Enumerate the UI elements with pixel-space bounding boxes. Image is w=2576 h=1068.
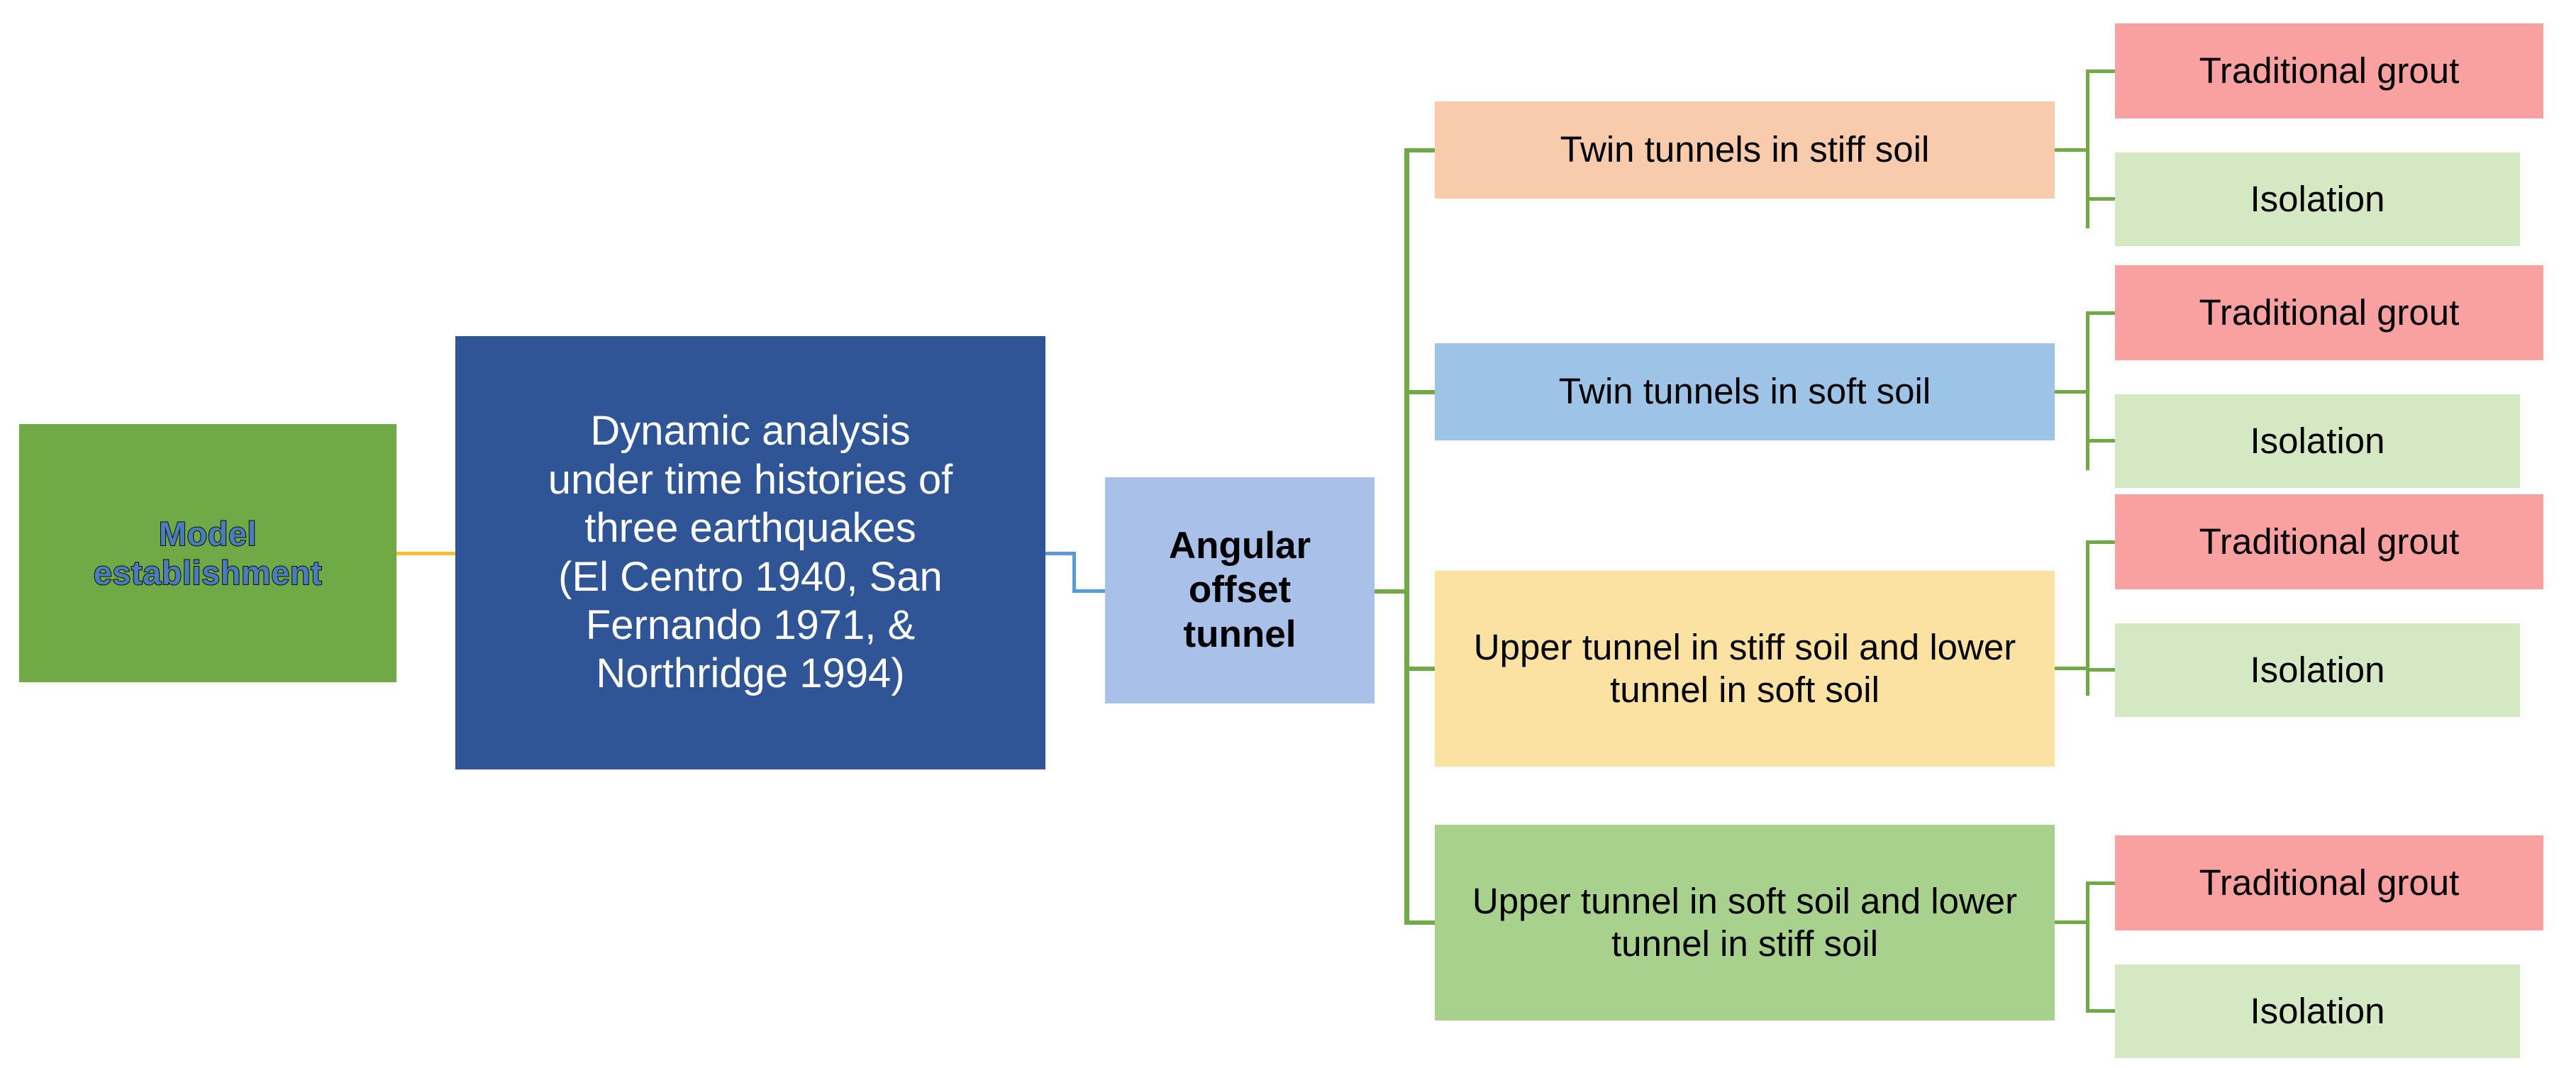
- connector-scenario-0-to-grout: [2086, 69, 2117, 73]
- node-treatment-traditional-grout-2[interactable]: Traditional grout: [2115, 494, 2543, 589]
- connector-scenario-1-to-grout: [2086, 311, 2117, 315]
- node-model-establishment[interactable]: Model establishment: [19, 424, 396, 682]
- connector-trunk-to-scenario-2: [1404, 667, 1437, 671]
- node-scenario-upper-soft-lower-stiff[interactable]: Upper tunnel in soft soil and lower tunn…: [1435, 825, 2055, 1020]
- connector-scenario-1-stub: [2055, 390, 2089, 394]
- connector-dynamic-to-angular-v: [1072, 552, 1076, 591]
- connector-dynamic-to-angular-h2: [1072, 589, 1106, 593]
- connector-scenario-1-v: [2086, 311, 2089, 470]
- connector-angular-stub: [1375, 589, 1409, 594]
- node-treatment-isolation-2[interactable]: Isolation: [2115, 623, 2520, 717]
- connector-trunk-to-scenario-1: [1404, 390, 1437, 394]
- node-scenario-twin-tunnels-stiff-soil[interactable]: Twin tunnels in stiff soil: [1435, 101, 2055, 199]
- node-treatment-traditional-grout-3[interactable]: Traditional grout: [2115, 835, 2543, 930]
- node-angular-offset-tunnel[interactable]: Angular offset tunnel: [1105, 477, 1375, 703]
- connector-trunk-to-scenario-0: [1404, 148, 1437, 152]
- connector-scenario-2-v: [2086, 540, 2089, 696]
- connector-model-to-dynamic: [396, 552, 456, 555]
- connector-main-trunk: [1404, 148, 1409, 923]
- connector-trunk-to-scenario-3: [1404, 920, 1437, 925]
- node-treatment-isolation-0[interactable]: Isolation: [2115, 152, 2520, 246]
- connector-scenario-0-v: [2086, 69, 2089, 228]
- connector-scenario-3-stub: [2055, 920, 2089, 924]
- connector-scenario-2-to-isolation: [2086, 668, 2117, 672]
- flowchart-canvas: Model establishment Dynamic analysis und…: [0, 0, 2576, 1068]
- connector-scenario-1-to-isolation: [2086, 439, 2117, 443]
- node-treatment-traditional-grout-0[interactable]: Traditional grout: [2115, 23, 2543, 118]
- connector-scenario-0-to-isolation: [2086, 197, 2117, 201]
- connector-dynamic-to-angular-h1: [1045, 552, 1075, 555]
- connector-scenario-0-stub: [2055, 148, 2089, 152]
- node-scenario-upper-stiff-lower-soft[interactable]: Upper tunnel in stiff soil and lower tun…: [1435, 571, 2055, 767]
- node-treatment-isolation-3[interactable]: Isolation: [2115, 964, 2520, 1058]
- node-scenario-twin-tunnels-soft-soil[interactable]: Twin tunnels in soft soil: [1435, 343, 2055, 440]
- connector-scenario-3-v: [2086, 881, 2089, 1009]
- connector-scenario-2-stub: [2055, 667, 2089, 670]
- node-treatment-traditional-grout-1[interactable]: Traditional grout: [2115, 265, 2543, 360]
- connector-scenario-3-to-isolation: [2086, 1009, 2117, 1013]
- node-treatment-isolation-1[interactable]: Isolation: [2115, 394, 2520, 488]
- node-dynamic-analysis[interactable]: Dynamic analysis under time histories of…: [455, 336, 1045, 769]
- connector-scenario-3-to-grout: [2086, 881, 2117, 885]
- connector-scenario-2-to-grout: [2086, 540, 2117, 544]
